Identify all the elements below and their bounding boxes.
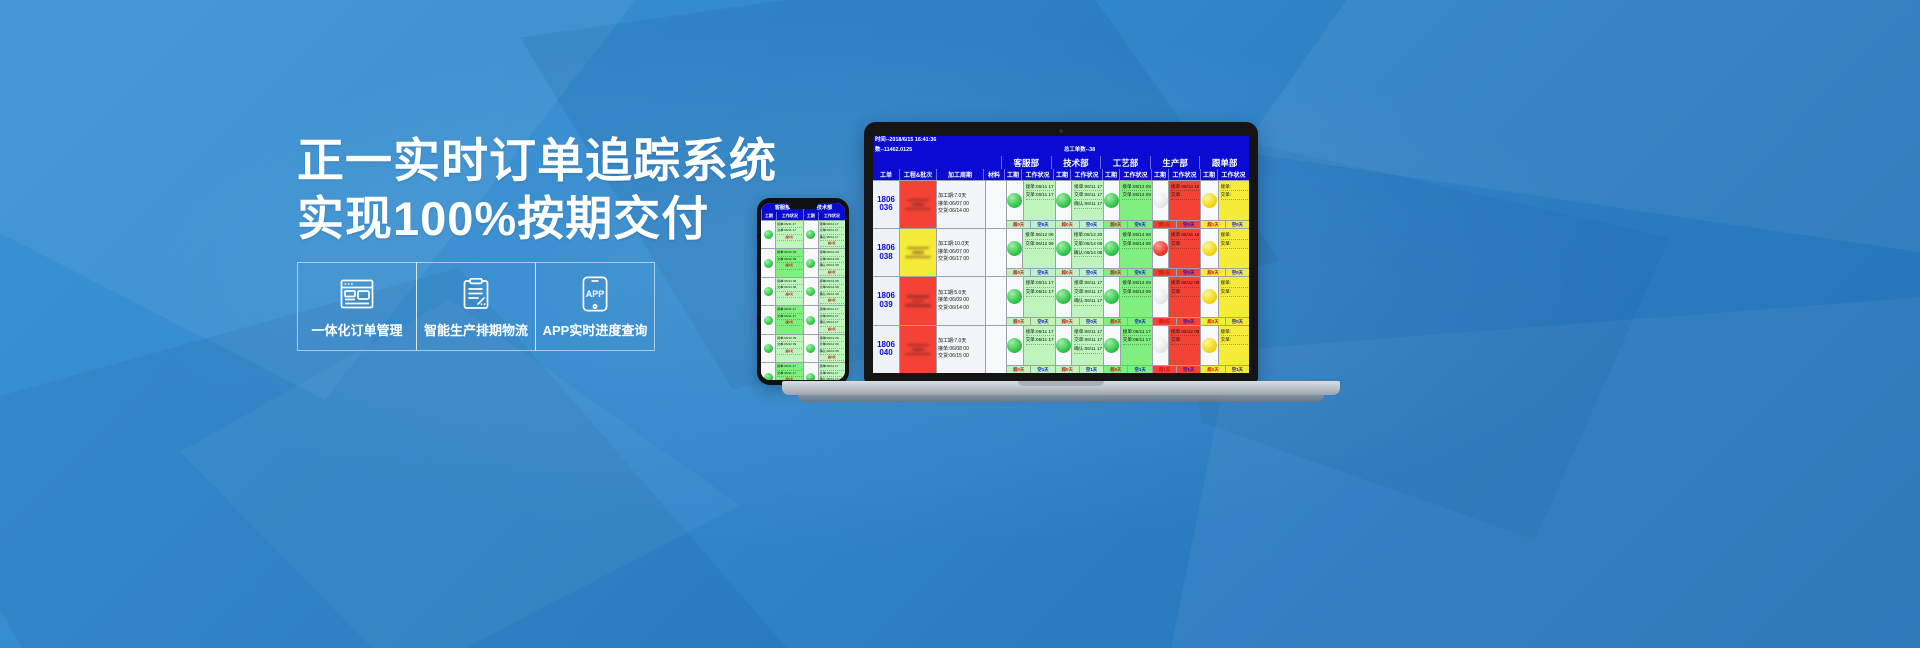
column-header-生产部-工作状况[interactable]: 工作状况: [1168, 169, 1200, 180]
status-cell-工艺部[interactable]: 接单:06/11 17交单:06/11 17超0天空1天: [1103, 326, 1152, 373]
status-light-green-icon: [764, 316, 773, 325]
work-status-line: 接单:06/15 16: [1171, 231, 1199, 240]
laptop-base: [782, 381, 1340, 395]
status-badge: 空1天: [1079, 366, 1103, 373]
status-badge: 超0天: [1007, 366, 1030, 373]
department-header-客服部[interactable]: 客服部: [1001, 156, 1051, 169]
duration-indicator[interactable]: [1153, 326, 1169, 365]
phone-duration-indicator[interactable]: [761, 278, 776, 305]
work-status-line: 交单:: [1171, 240, 1199, 249]
work-status-line: 接单:06/13 10: [1171, 183, 1199, 192]
work-status-lines: 接单:06/12 09交单:06/12 09: [1023, 229, 1054, 268]
phone-work-status-lines: 接单:06/11 17交单:06/11 17确认:06/11 17超0天: [819, 221, 845, 248]
work-status-lines: 接单:06/11 17交单:06/11 17: [1024, 181, 1055, 220]
phone-dashboard: 客服部技术部 工期工作状况工期工作状况 接单:06/11 17交单:06/11 …: [761, 203, 845, 380]
phone-table-row[interactable]: 接单:06/14 08交单:06/14 08超0天接单:06/14 08交单:0…: [761, 277, 845, 305]
department-header-spacer: [873, 156, 1001, 169]
status-badge: 空0天: [1079, 269, 1103, 276]
work-status-line: 交单:06/11 17: [1074, 191, 1102, 200]
work-status-line: 接单:06/11 17: [1026, 279, 1054, 288]
phone-work-status-line: 确认:06/11 17: [820, 377, 844, 380]
status-cell-body: 接单:06/12 09交单:06/12 09: [1007, 229, 1055, 268]
status-light-green-icon: [1007, 193, 1022, 208]
status-badge: 超0天: [1007, 318, 1030, 325]
status-badge: 空0天: [1225, 221, 1249, 228]
status-badges: 超1天空0天: [1153, 220, 1201, 228]
work-status-line: 确认:06/11 17: [1074, 297, 1102, 306]
status-badges: 超0天空0天: [1056, 268, 1104, 276]
status-light-green-icon: [1104, 193, 1119, 208]
column-header-生产部-工期[interactable]: 工期: [1151, 169, 1168, 180]
duration-indicator[interactable]: [1056, 229, 1072, 268]
phone-column-header-工期-0[interactable]: 工期: [761, 212, 776, 220]
status-light-green-icon: [1007, 289, 1022, 304]
status-light-gray-icon: [1153, 338, 1168, 353]
status-badge: 超1天: [1153, 366, 1176, 373]
column-header-跟单部-工期[interactable]: 工期: [1200, 169, 1217, 180]
status-cell-工艺部[interactable]: 接单:06/14 08交单:06/14 08超0天空0天: [1103, 229, 1152, 276]
phone-status-cell-right[interactable]: 接单:06/11 17交单:06/11 17确认:06/11 17超0天: [803, 306, 846, 333]
phone-status-cell-right[interactable]: 接单:06/12 20交单:06/14 08确认:06/14 08超0天: [803, 249, 846, 276]
duration-indicator[interactable]: [1007, 277, 1024, 316]
duration-indicator[interactable]: [1104, 181, 1120, 220]
work-status-line: 交单:: [1221, 191, 1248, 200]
department-header-技术部[interactable]: 技术部: [1051, 156, 1101, 169]
work-status-lines: 接单:06/13 10交单:: [1169, 181, 1200, 220]
work-status-line: 确认:06/11 17: [1074, 345, 1102, 354]
status-cell-body: 接单:06/11 17交单:06/11 17确认:06/11 17: [1056, 326, 1104, 365]
phone-duration-indicator[interactable]: [804, 306, 819, 333]
work-order-number[interactable]: 1806036: [873, 181, 899, 228]
column-header-跟单部-工作状况[interactable]: 工作状况: [1217, 169, 1249, 180]
status-cell-body: 接单:06/11 17交单:06/11 17: [1104, 326, 1152, 365]
status-light-yellow-icon: [1202, 289, 1217, 304]
status-light-yellow-icon: [1202, 193, 1217, 208]
phone-work-status-lines: 接单:06/11 17交单:06/11 17确认:06/11 17超0天: [819, 306, 845, 333]
status-badge: 空0天: [1225, 318, 1249, 325]
status-badge: 空0天: [1225, 269, 1249, 276]
work-status-line: 接单:06/11 17: [1074, 183, 1102, 192]
work-status-line: 接单:: [1221, 183, 1248, 192]
processing-cycle-cell[interactable]: 加工期:7.0天接单:06/08 00交货:06/15 00: [936, 326, 985, 373]
status-badges: 超0天空0天: [1153, 268, 1201, 276]
status-badges: 超0天空0天: [1104, 220, 1152, 228]
duration-indicator[interactable]: [1056, 277, 1073, 316]
table-row[interactable]: 1806038加工期:10.0天接单:06/07 00交货:06/17 00接单…: [873, 228, 1249, 276]
work-status-line: 交单:: [1171, 288, 1199, 297]
cycle-line: 交货:06/14 00: [938, 305, 984, 313]
phone-column-header-工期-2[interactable]: 工期: [803, 212, 818, 220]
status-badges: 超0天空1天: [1007, 365, 1055, 373]
status-cell-跟单部[interactable]: 接单:交单:超0天空0天: [1200, 229, 1249, 276]
cycle-line: 加工期:10.0天: [938, 241, 984, 249]
department-header-生产部[interactable]: 生产部: [1150, 156, 1200, 169]
status-badges: 超0天空1天: [1104, 365, 1152, 373]
duration-indicator[interactable]: [1007, 326, 1024, 365]
work-status-line: 确认:06/14 08: [1074, 249, 1102, 258]
phone-table-row[interactable]: 接单:06/11 17交单:06/11 17超0天接单:06/11 17交单:0…: [761, 220, 845, 248]
column-header-技术部-工期[interactable]: 工期: [1053, 169, 1070, 180]
project-batch-cell[interactable]: [899, 229, 936, 276]
phone-mockup: 客服部技术部 工期工作状况工期工作状况 接单:06/11 17交单:06/11 …: [757, 198, 849, 385]
status-cell-跟单部[interactable]: 接单:交单:超1天空0天: [1200, 181, 1249, 228]
duration-indicator[interactable]: [1007, 181, 1024, 220]
status-badge: 空0天: [1030, 269, 1054, 276]
table-row[interactable]: 1806039加工期:5.0天接单:06/09 00交货:06/14 00接单:…: [873, 276, 1249, 324]
status-badges: 超3天空0天: [1153, 317, 1201, 325]
work-status-lines: 接单:06/12 09交单:06/12 09: [1120, 181, 1151, 220]
status-cell-body: 接单:06/11 17交单:06/11 17: [1007, 277, 1055, 316]
dashboard-topbar: 时间--2018/6/15 16:41:36 数--11462.0125 总工单…: [873, 136, 1249, 156]
status-cell-body: 接单:06/11 17交单:06/11 17: [1007, 181, 1055, 220]
status-light-yellow-icon: [1202, 241, 1217, 256]
laptop-mockup: 时间--2018/6/15 16:41:36 数--11462.0125 总工单…: [864, 122, 1258, 382]
cycle-line: 接单:06/09 00: [938, 297, 984, 305]
status-cell-生产部[interactable]: 接单:06/13 10交单:超1天空0天: [1152, 181, 1201, 228]
column-header-客服部-工期[interactable]: 工期: [1004, 169, 1021, 180]
work-status-line: 接单:06/12 09: [1122, 183, 1150, 192]
phone-status-cell-left[interactable]: 接单:06/11 17交单:06/11 17超0天: [761, 306, 803, 333]
webcam-icon: [1059, 129, 1063, 133]
status-cell-客服部[interactable]: 接单:06/11 17交单:06/11 17超0天空0天: [1006, 181, 1055, 228]
work-status-lines: 接单:交单:: [1219, 277, 1249, 316]
duration-indicator[interactable]: [1153, 277, 1169, 316]
phone-duration-indicator[interactable]: [761, 363, 776, 380]
department-header-工艺部[interactable]: 工艺部: [1100, 156, 1150, 169]
work-status-line: 接单:06/11 17: [1026, 183, 1054, 192]
laptop-screen: 时间--2018/6/15 16:41:36 数--11462.0125 总工单…: [873, 136, 1249, 373]
status-cell-body: 接单:06/13 10交单:: [1153, 181, 1201, 220]
status-light-green-icon: [1007, 338, 1022, 353]
phone-duration-indicator[interactable]: [804, 335, 819, 362]
column-header-技术部-工作状况[interactable]: 工作状况: [1070, 169, 1102, 180]
phone-status-badge: 超0天: [777, 377, 801, 380]
work-status-line: 确认:06/11 17: [1074, 200, 1102, 209]
work-status-line: 接单:06/12 09: [1171, 328, 1199, 337]
phone-work-status-lines: 接单:06/14 08交单:06/14 08超0天: [776, 278, 802, 305]
status-cell-生产部[interactable]: 接单:06/12 09交单:超1天空1天: [1152, 326, 1201, 373]
phone-duration-indicator[interactable]: [761, 221, 776, 248]
status-badge: 超0天: [1007, 221, 1030, 228]
status-cell-生产部[interactable]: 接单:06/12 09交单:超3天空0天: [1152, 277, 1201, 324]
phone-status-cell-left[interactable]: 接单:06/12 09交单:06/12 09超0天: [761, 335, 803, 362]
duration-indicator[interactable]: [1201, 277, 1218, 316]
status-badge: 超0天: [1104, 269, 1127, 276]
phone-duration-indicator[interactable]: [761, 249, 776, 276]
status-badges: 超0天空1天: [1056, 365, 1104, 373]
status-cell-客服部[interactable]: 接单:06/11 17交单:06/11 17超0天空1天: [1006, 326, 1055, 373]
duration-indicator[interactable]: [1104, 229, 1120, 268]
status-badges: 超0天空0天: [1007, 268, 1055, 276]
system-time: 时间--2018/6/15 16:41:36: [875, 137, 936, 145]
phone-column-header-工作状况-1[interactable]: 工作状况: [776, 212, 803, 220]
work-order-number[interactable]: 1806039: [873, 277, 899, 324]
work-status-line: 接单:06/11 17: [1074, 328, 1102, 337]
phone-status-badge: 超0天: [820, 327, 844, 333]
status-cell-body: 接单:06/14 08交单:06/14 08: [1104, 229, 1152, 268]
status-light-green-icon: [764, 259, 773, 268]
duration-indicator[interactable]: [1056, 326, 1073, 365]
phone-duration-indicator[interactable]: [804, 278, 819, 305]
duration-indicator[interactable]: [1201, 181, 1218, 220]
status-light-green-icon: [806, 287, 815, 296]
duration-indicator[interactable]: [1153, 181, 1169, 220]
status-badge: 空0天: [1030, 318, 1054, 325]
status-cell-客服部[interactable]: 接单:06/11 17交单:06/11 17超0天空0天: [1006, 277, 1055, 324]
status-badge: 空0天: [1079, 221, 1103, 228]
status-badge: 超0天: [1056, 221, 1079, 228]
cycle-line: 交货:06/14 00: [938, 208, 984, 216]
phone-table-body[interactable]: 接单:06/11 17交单:06/11 17超0天接单:06/11 17交单:0…: [761, 220, 845, 380]
status-badge: 空0天: [1176, 221, 1200, 228]
processing-cycle-cell[interactable]: 加工期:10.0天接单:06/07 00交货:06/17 00: [936, 229, 985, 276]
status-light-gray-icon: [1153, 289, 1168, 304]
department-header-跟单部[interactable]: 跟单部: [1199, 156, 1249, 169]
status-light-green-icon: [1056, 338, 1071, 353]
status-cell-技术部[interactable]: 接单:06/11 17交单:06/11 17确认:06/11 17超0天空0天: [1055, 277, 1104, 324]
status-badges: 超0天空0天: [1201, 268, 1249, 276]
work-status-line: 交单:06/11 17: [1026, 336, 1054, 345]
work-order-number[interactable]: 1806040: [873, 326, 899, 373]
table-row[interactable]: 1806036加工期:7.0天接单:06/07 00交货:06/14 00接单:…: [873, 180, 1249, 228]
laptop-lid: 时间--2018/6/15 16:41:36 数--11462.0125 总工单…: [864, 122, 1258, 382]
cycle-line: 加工期:7.0天: [938, 193, 984, 201]
work-status-lines: 接单:06/12 09交单:06/12 09: [1120, 277, 1151, 316]
status-cell-body: 接单:交单:: [1201, 277, 1249, 316]
status-badges: 超0天空0天: [1104, 268, 1152, 276]
work-status-line: 交单:06/12 09: [1122, 191, 1150, 200]
phone-status-cell-right[interactable]: 接单:06/11 17交单:06/11 17确认:06/11 17超0天: [803, 363, 846, 380]
laptop-base-foot: [798, 395, 1324, 402]
column-header-材料[interactable]: 材料: [983, 169, 1004, 180]
status-badge: 空1天: [1176, 366, 1200, 373]
status-badge: 空1天: [1030, 366, 1054, 373]
duration-indicator[interactable]: [1201, 326, 1218, 365]
table-row[interactable]: 1806040加工期:7.0天接单:06/08 00交货:06/15 00接单:…: [873, 325, 1249, 373]
work-status-line: 交单:06/11 17: [1026, 288, 1054, 297]
material-cell[interactable]: [985, 181, 1006, 228]
status-badges: 超1天空0天: [1201, 220, 1249, 228]
column-header-工单[interactable]: 工单: [873, 169, 899, 180]
status-badge: 超0天: [1201, 269, 1224, 276]
phone-status-badge: 超0天: [777, 235, 801, 241]
processing-cycle-cell[interactable]: 加工期:7.0天接单:06/07 00交货:06/14 00: [936, 181, 985, 228]
status-cell-工艺部[interactable]: 接单:06/12 09交单:06/12 09超0天空0天: [1103, 181, 1152, 228]
work-status-line: 接单:06/12 09: [1025, 231, 1053, 240]
status-badges: 超0天空0天: [1007, 220, 1055, 228]
status-cell-工艺部[interactable]: 接单:06/12 09交单:06/12 09超0天空0天: [1103, 277, 1152, 324]
duration-indicator[interactable]: [1007, 229, 1023, 268]
status-light-green-icon: [806, 373, 815, 380]
status-badges: 超0天空0天: [1056, 317, 1104, 325]
status-cell-技术部[interactable]: 接单:06/12 20交单:06/14 08确认:06/14 08超0天空0天: [1055, 229, 1104, 276]
status-cell-body: 接单:06/15 16交单:: [1153, 229, 1201, 268]
phone-status-badge: 超0天: [777, 320, 801, 326]
status-badges: 超1天空1天: [1201, 365, 1249, 373]
status-light-green-icon: [1056, 193, 1071, 208]
project-batch-text: [900, 326, 936, 373]
phone-work-status-lines: 接单:06/14 08交单:06/14 08确认:06/14 08超0天: [819, 278, 845, 305]
work-status-line: 接单:: [1221, 279, 1248, 288]
status-cell-body: 接单:06/11 17交单:06/11 17确认:06/11 17: [1056, 277, 1104, 316]
status-cell-客服部[interactable]: 接单:06/12 09交单:06/12 09超0天空0天: [1006, 229, 1055, 276]
work-status-line: 交单:06/12 09: [1025, 240, 1053, 249]
work-status-line: 接单:06/11 17: [1074, 279, 1102, 288]
work-status-line: 交单:06/14 08: [1074, 240, 1102, 249]
phone-table-row[interactable]: 接单:06/12 09交单:06/12 09超0天接单:06/12 20交单:0…: [761, 248, 845, 276]
phone-status-badge: 超0天: [820, 241, 844, 247]
phone-status-cell-left[interactable]: 接单:06/11 17交单:06/11 17超0天: [761, 221, 803, 248]
duration-indicator[interactable]: [1104, 326, 1121, 365]
promo-banner: 正一实时订单追踪系统 实现100%按期交付 一体化订单管理智能生产排期物流APP…: [0, 0, 1920, 648]
duration-indicator[interactable]: [1056, 181, 1073, 220]
phone-table-row[interactable]: 接单:06/11 17交单:06/11 17超0天接单:06/11 17交单:0…: [761, 305, 845, 333]
project-batch-cell[interactable]: [899, 326, 936, 373]
status-badge: 超0天: [1056, 269, 1079, 276]
phone-work-status-lines: 接单:06/11 17交单:06/11 17确认:06/11 17超0天: [819, 363, 845, 380]
work-status-line: 接单:06/12 20: [1074, 231, 1102, 240]
status-light-green-icon: [1104, 241, 1119, 256]
cycle-line: 交货:06/17 00: [938, 256, 984, 264]
phone-status-cell-right[interactable]: 接单:06/14 08交单:06/14 08确认:06/14 08超0天: [803, 278, 846, 305]
status-badge: 超3天: [1153, 318, 1176, 325]
project-batch-cell[interactable]: [899, 277, 936, 324]
phone-status-cell-right[interactable]: 接单:06/11 17交单:06/11 17确认:06/11 17超0天: [803, 221, 846, 248]
work-status-line: 接单:06/11 17: [1123, 328, 1151, 337]
column-header-工艺部-工作状况[interactable]: 工作状况: [1119, 169, 1151, 180]
phone-status-badge: 超0天: [777, 349, 801, 355]
status-light-green-icon: [764, 344, 773, 353]
phone-work-status-lines: 接单:06/12 09交单:06/12 09确认:06/12 09超0天: [819, 335, 845, 362]
work-status-line: 交单:: [1221, 288, 1248, 297]
status-badge: 空0天: [1176, 269, 1200, 276]
phone-work-status-lines: 接单:06/12 20交单:06/14 08确认:06/14 08超0天: [819, 249, 845, 276]
topbar-stats-row: 数--11462.0125 总工单数--38: [873, 146, 1249, 156]
phone-status-cell-right[interactable]: 接单:06/12 09交单:06/12 09确认:06/12 09超0天: [803, 335, 846, 362]
status-light-green-icon: [1056, 241, 1071, 256]
work-status-line: 交单:06/11 17: [1026, 191, 1054, 200]
status-light-green-icon: [806, 344, 815, 353]
status-badge: 空1天: [1127, 366, 1151, 373]
work-status-line: 交单:06/11 17: [1123, 336, 1151, 345]
status-cell-body: 接单:06/11 17交单:06/11 17确认:06/11 17: [1056, 181, 1104, 220]
device-mockups: 客服部技术部 工期工作状况工期工作状况 接单:06/11 17交单:06/11 …: [0, 0, 1920, 648]
topbar-time-row: 时间--2018/6/15 16:41:36: [873, 136, 1249, 146]
status-badges: 超0天空0天: [1104, 317, 1152, 325]
column-header-客服部-工作状况[interactable]: 工作状况: [1021, 169, 1053, 180]
status-light-green-icon: [764, 373, 773, 380]
phone-duration-indicator[interactable]: [761, 306, 776, 333]
work-status-lines: 接单:06/11 17交单:06/11 17: [1024, 277, 1055, 316]
work-status-line: 交单:: [1221, 240, 1248, 249]
status-badges: 超0天空0天: [1056, 220, 1104, 228]
status-light-yellow-icon: [1202, 338, 1217, 353]
status-cell-body: 接单:06/12 09交单:06/12 09: [1104, 181, 1152, 220]
work-status-lines: 接单:06/11 17交单:06/11 17确认:06/11 17: [1072, 326, 1103, 365]
work-order-number[interactable]: 1806038: [873, 229, 899, 276]
order-tracking-dashboard: 时间--2018/6/15 16:41:36 数--11462.0125 总工单…: [873, 136, 1249, 373]
phone-status-cell-left[interactable]: 接单:06/14 08交单:06/14 08超0天: [761, 278, 803, 305]
phone-duration-indicator[interactable]: [761, 335, 776, 362]
duration-indicator[interactable]: [1153, 229, 1169, 268]
work-status-lines: 接单:06/12 09交单:: [1169, 326, 1200, 365]
status-light-green-icon: [764, 230, 773, 239]
material-cell[interactable]: [985, 326, 1006, 373]
work-status-line: 接单:06/14 08: [1122, 231, 1150, 240]
status-cell-跟单部[interactable]: 接单:交单:超3天空0天: [1200, 277, 1249, 324]
work-status-lines: 接单:06/12 20交单:06/14 08确认:06/14 08: [1072, 229, 1103, 268]
duration-indicator[interactable]: [1201, 229, 1218, 268]
work-status-lines: 接单:06/12 09交单:: [1169, 277, 1200, 316]
cycle-line: 交货:06/15 00: [938, 353, 984, 361]
phone-status-cell-left[interactable]: 接单:06/12 09交单:06/12 09超0天: [761, 249, 803, 276]
status-light-green-icon: [764, 287, 773, 296]
status-badge: 超3天: [1201, 318, 1224, 325]
column-header-加工周期[interactable]: 加工周期: [936, 169, 983, 180]
status-cell-生产部[interactable]: 接单:06/15 16交单:超0天空0天: [1152, 229, 1201, 276]
work-status-line: 交单:06/11 17: [1074, 336, 1102, 345]
status-cell-body: 接单:06/12 09交单:: [1153, 277, 1201, 316]
status-badges: 超1天空1天: [1153, 365, 1201, 373]
project-batch-cell[interactable]: [899, 181, 936, 228]
work-status-line: 交单:: [1171, 191, 1199, 200]
phone-work-status-lines: 接单:06/12 09交单:06/12 09超0天: [776, 335, 802, 362]
phone-column-header-工作状况-3[interactable]: 工作状况: [818, 212, 845, 220]
status-cell-跟单部[interactable]: 接单:交单:超1天空1天: [1200, 326, 1249, 373]
work-status-line: 接单:06/12 09: [1171, 279, 1199, 288]
status-badge: 超1天: [1201, 221, 1224, 228]
status-badge: 空0天: [1176, 318, 1200, 325]
column-header-工程&批次[interactable]: 工程&批次: [899, 169, 936, 180]
phone-duration-indicator[interactable]: [804, 221, 819, 248]
status-badge: 空0天: [1030, 221, 1054, 228]
work-status-line: 交单:: [1221, 336, 1248, 345]
status-cell-body: 接单:06/11 17交单:06/11 17: [1007, 326, 1055, 365]
status-light-green-icon: [806, 316, 815, 325]
status-light-gray-icon: [1153, 193, 1168, 208]
phone-status-cell-left[interactable]: 接单:06/11 17交单:06/11 17超0天: [761, 363, 803, 380]
phone-table-row[interactable]: 接单:06/12 09交单:06/12 09超0天接单:06/12 09交单:0…: [761, 334, 845, 362]
duration-indicator[interactable]: [1104, 277, 1120, 316]
column-header-工艺部-工期[interactable]: 工期: [1102, 169, 1119, 180]
dashboard-table-body[interactable]: 1806036加工期:7.0天接单:06/07 00交货:06/14 00接单:…: [873, 180, 1249, 373]
phone-duration-indicator[interactable]: [804, 363, 819, 380]
status-badge: 超1天: [1201, 366, 1224, 373]
status-badge: 超0天: [1056, 318, 1079, 325]
status-badge: 超0天: [1153, 269, 1176, 276]
work-status-lines: 接单:交单:: [1219, 229, 1249, 268]
status-badge: 空0天: [1079, 318, 1103, 325]
project-batch-text: [900, 181, 936, 228]
phone-work-status-lines: 接单:06/11 17交单:06/11 17超0天: [776, 221, 802, 248]
status-light-green-icon: [1007, 241, 1022, 256]
status-cell-技术部[interactable]: 接单:06/11 17交单:06/11 17确认:06/11 17超0天空0天: [1055, 181, 1104, 228]
work-status-lines: 接单:06/14 08交单:06/14 08: [1120, 229, 1151, 268]
work-status-line: 接单:06/12 09: [1122, 279, 1150, 288]
processing-cycle-cell[interactable]: 加工期:5.0天接单:06/09 00交货:06/14 00: [936, 277, 985, 324]
status-cell-技术部[interactable]: 接单:06/11 17交单:06/11 17确认:06/11 17超0天空1天: [1055, 326, 1104, 373]
status-badge: 空0天: [1127, 318, 1151, 325]
phone-work-status-lines: 接单:06/11 17交单:06/11 17超0天: [776, 363, 802, 380]
phone-duration-indicator[interactable]: [804, 249, 819, 276]
status-badge: 超0天: [1056, 366, 1079, 373]
material-cell[interactable]: [985, 229, 1006, 276]
phone-table-row[interactable]: 接单:06/11 17交单:06/11 17超0天接单:06/11 17交单:0…: [761, 362, 845, 380]
status-light-green-icon: [1104, 338, 1119, 353]
status-badge: 超0天: [1104, 318, 1127, 325]
phone-work-status-lines: 接单:06/12 09交单:06/12 09超0天: [776, 249, 802, 276]
material-cell[interactable]: [985, 277, 1006, 324]
